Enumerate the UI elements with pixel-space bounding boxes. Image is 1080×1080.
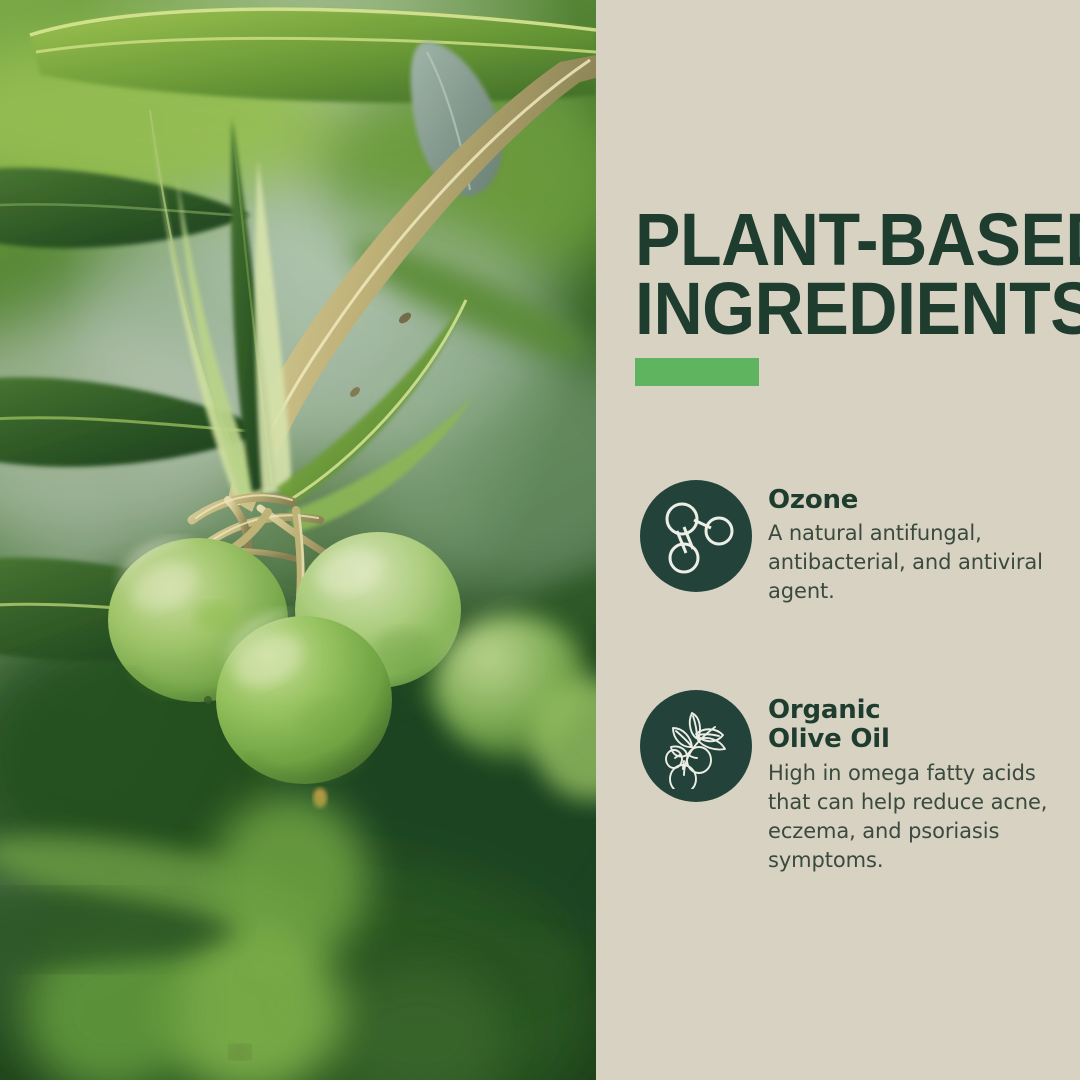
feature-text-ozone: Ozone A natural antifungal, antibacteria… (768, 480, 1068, 606)
headline: PLANT-BASEDINGREDIENTS (635, 206, 1031, 344)
feature-title-ozone: Ozone (768, 486, 1068, 515)
feature-description-olive-oil: High in omega fatty acids that can help … (768, 759, 1068, 875)
accent-bar (635, 358, 759, 386)
page-title: PLANT-BASEDINGREDIENTS (635, 206, 1065, 344)
feature-description-ozone: A natural antifungal, antibacterial, and… (768, 519, 1068, 606)
feature-title-olive-oil: Organic Olive Oil (768, 696, 1068, 755)
feature-item-olive-oil: Organic Olive Oil High in omega fatty ac… (640, 690, 1070, 875)
headline-line-2: INGREDIENTS (635, 275, 1031, 344)
olive-photo-illustration (0, 0, 596, 1080)
infographic-canvas: PLANT-BASEDINGREDIENTS (0, 0, 1080, 1080)
olive-branch-icon (640, 690, 752, 802)
content-panel: PLANT-BASEDINGREDIENTS (596, 0, 1080, 1080)
olive-branch-photo (0, 0, 596, 1080)
ozone-molecule-icon (640, 480, 752, 592)
ozone-molecule-glyph (653, 493, 739, 579)
olive-branch-glyph (653, 703, 739, 789)
feature-item-ozone: Ozone A natural antifungal, antibacteria… (640, 480, 1070, 606)
feature-text-olive-oil: Organic Olive Oil High in omega fatty ac… (768, 690, 1068, 875)
